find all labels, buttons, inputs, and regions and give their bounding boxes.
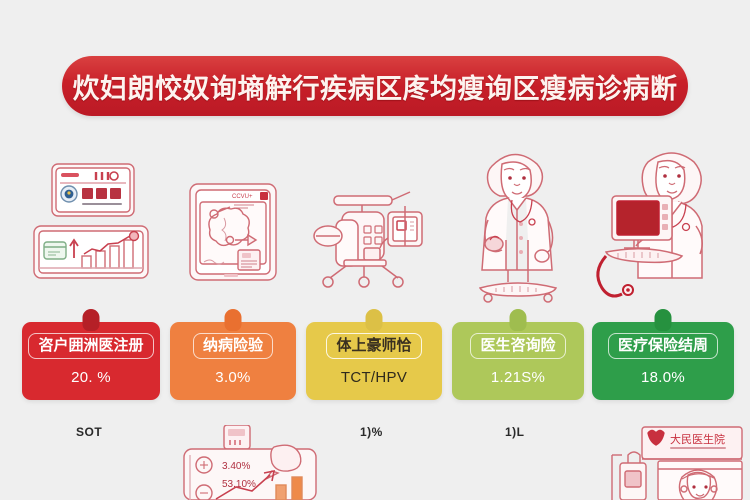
card-2-tab <box>225 309 242 331</box>
card-4-value: 1.21S% <box>491 369 545 386</box>
card-5-label: 医疗保险结周 <box>608 333 718 359</box>
card-2-value: 3.0% <box>215 369 250 386</box>
illustration-ultrasound-machine <box>306 150 442 300</box>
bottom-illustration-analytics: 3.40% 53.10% <box>170 425 345 500</box>
card-4-tab <box>510 309 527 331</box>
bottom-chart-value-1: 3.40% <box>222 461 250 472</box>
card-1[interactable]: 咨户囲洲匧注册 20. % <box>22 322 160 400</box>
card-3[interactable]: 体上豪师恰 TCT/HPV <box>306 322 442 400</box>
illustration-column-3 <box>306 150 442 300</box>
card-4-footnote: 1)L <box>505 425 525 439</box>
clinic-sign-text: 大民医生院 <box>670 432 725 446</box>
card-5-tab <box>655 309 672 331</box>
card-3-value: TCT/HPV <box>341 369 407 386</box>
card-5[interactable]: 医疗保险结周 18.0% <box>592 322 734 400</box>
card-2-label: 纳病险验 <box>193 333 273 359</box>
illustration-column-1 <box>22 150 160 300</box>
card-3-label: 体上豪师恰 <box>326 333 421 359</box>
card-3-wrapper[interactable]: 体上豪师恰 TCT/HPV <box>306 322 442 400</box>
illustration-doctor-standing <box>452 150 582 300</box>
illustration-tablet-brain-scan: CCVU+ <box>172 150 294 300</box>
card-5-value: 18.0% <box>641 369 685 386</box>
card-3-tab <box>366 309 383 331</box>
page-title: 炊妇朗恔奴询墒觪行疾病区庝均瘦询区瘦病诊病断 <box>73 67 678 106</box>
illustration-column-4 <box>452 150 582 300</box>
illustration-doctor-with-monitor <box>590 150 736 300</box>
card-5-wrapper[interactable]: 医疗保险结周 18.0% <box>592 322 734 400</box>
card-1-label: 咨户囲洲匧注册 <box>28 333 153 359</box>
bottom-illustration-clinic-counter: 大民医生院 <box>596 425 750 500</box>
card-2-wrapper[interactable]: 纳病险验 3.0% <box>170 322 296 400</box>
tablet-screen-label-text: CCVU+ <box>232 194 253 200</box>
card-1-value: 20. % <box>71 369 111 386</box>
illustration-column-5 <box>590 150 736 300</box>
card-1-tab <box>83 309 100 331</box>
illustration-column-2: CCVU+ <box>172 150 294 300</box>
card-2[interactable]: 纳病险验 3.0% <box>170 322 296 400</box>
card-1-wrapper[interactable]: 咨户囲洲匧注册 20. % <box>22 322 160 400</box>
card-4-label: 医生咨询险 <box>470 333 565 359</box>
illustration-id-card-and-growth-chart <box>22 150 160 300</box>
card-4-wrapper[interactable]: 医生咨询险 1.21S% <box>452 322 584 400</box>
card-1-footnote: SOT <box>76 425 102 439</box>
card-3-footnote: 1)% <box>360 425 383 439</box>
title-banner: 炊妇朗恔奴询墒觪行疾病区庝均瘦询区瘦病诊病断 <box>62 56 688 116</box>
card-4[interactable]: 医生咨询险 1.21S% <box>452 322 584 400</box>
